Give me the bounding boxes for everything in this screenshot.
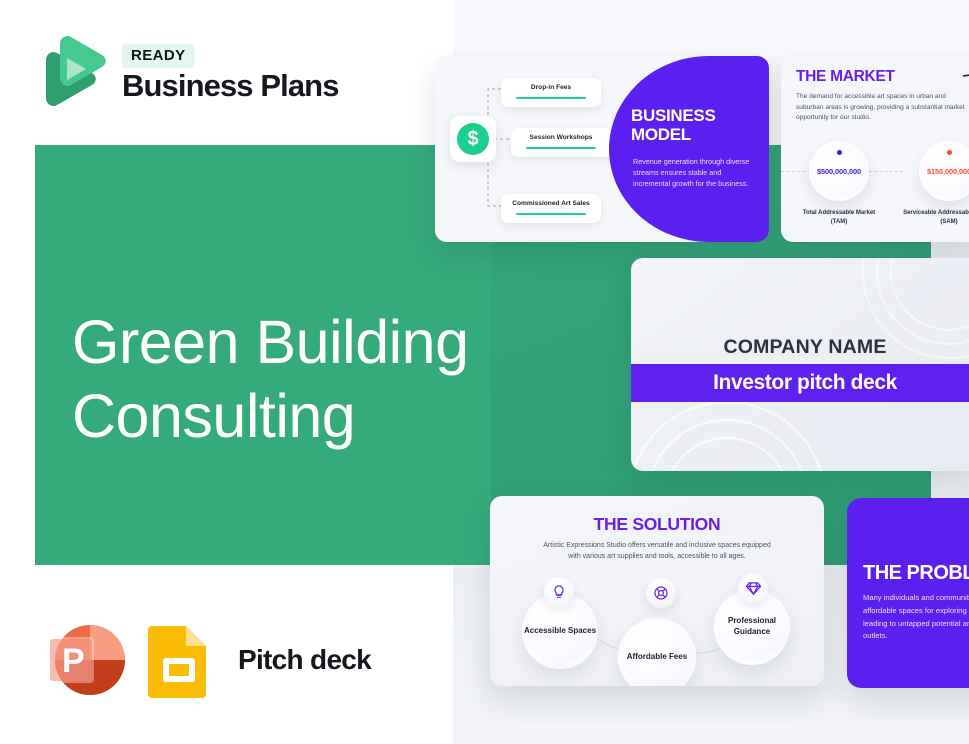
market-metric-dot bbox=[947, 150, 952, 155]
brand-lockup: READY Business Plans bbox=[40, 36, 339, 110]
double-play-triangle-logo bbox=[40, 36, 106, 110]
underline-accent bbox=[526, 147, 596, 149]
solution-node[interactable]: Affordable Fees bbox=[618, 618, 696, 686]
market-metric[interactable]: $150,000,000 Serviceable Addressable Mar… bbox=[903, 141, 969, 226]
svg-text:P: P bbox=[62, 642, 85, 680]
ready-badge: READY bbox=[122, 44, 195, 68]
dollar-icon: $ bbox=[450, 116, 496, 162]
slide-card-market[interactable]: THE MARKET The demand for accessible art… bbox=[781, 56, 969, 242]
dollar-symbol: $ bbox=[457, 123, 489, 155]
slide-card-business-model[interactable]: $ Drop-in Fees Session Workshops Commiss… bbox=[435, 56, 769, 242]
market-description: The demand for accessible art spaces in … bbox=[796, 92, 966, 124]
market-metric-dot bbox=[837, 150, 842, 155]
slide-card-solution[interactable]: THE SOLUTION Artistic Expressions Studio… bbox=[490, 496, 824, 686]
business-model-item-label: Drop-in Fees bbox=[510, 84, 592, 91]
format-badges: P Pitch deck bbox=[40, 618, 371, 702]
diamond-icon bbox=[738, 573, 768, 603]
solution-node[interactable]: Professional Guidance bbox=[714, 589, 790, 665]
lifebuoy-icon bbox=[646, 578, 676, 608]
underline-accent bbox=[516, 213, 586, 215]
business-model-item[interactable]: Drop-in Fees bbox=[501, 78, 601, 107]
brand-name: Business Plans bbox=[122, 70, 339, 103]
solution-node[interactable]: Accessible Spaces bbox=[522, 593, 598, 669]
brand-text: READY Business Plans bbox=[122, 44, 339, 103]
page-title: Green Building Consulting bbox=[72, 305, 502, 454]
problem-title: THE PROBLEM bbox=[863, 562, 969, 585]
business-model-item[interactable]: Session Workshops bbox=[511, 128, 611, 157]
problem-description: Many individuals and communities lack ac… bbox=[863, 592, 969, 643]
slide-card-company-name[interactable]: COMPANY NAME Investor pitch deck bbox=[631, 258, 969, 471]
business-model-title: BUSINESS MODEL bbox=[631, 106, 757, 144]
business-model-item-label: Session Workshops bbox=[520, 134, 602, 141]
business-model-description: Revenue generation through diverse strea… bbox=[633, 156, 757, 189]
business-model-item[interactable]: Commissioned Art Sales bbox=[501, 194, 601, 223]
lightbulb-icon bbox=[544, 577, 574, 607]
market-metric[interactable]: $500,000,000 Total Addressable Market (T… bbox=[797, 141, 881, 226]
business-model-item-label: Commissioned Art Sales bbox=[510, 200, 592, 207]
market-metric-value: $150,000,000 bbox=[927, 167, 969, 176]
poster-canvas: READY Business Plans Green Building Cons… bbox=[0, 0, 969, 744]
company-name-band: Investor pitch deck bbox=[631, 364, 969, 402]
market-title: THE MARKET bbox=[796, 68, 895, 86]
format-label: Pitch deck bbox=[238, 644, 371, 676]
market-metric-value: $500,000,000 bbox=[817, 167, 861, 176]
market-metric-bubble: $500,000,000 bbox=[809, 141, 869, 201]
market-metric-caption: Serviceable Addressable Market (SAM) bbox=[903, 209, 969, 226]
curved-arrow-icon bbox=[961, 70, 969, 114]
google-slides-icon bbox=[148, 622, 210, 698]
market-metric-caption: Total Addressable Market (TAM) bbox=[797, 209, 881, 226]
company-name-title: COMPANY NAME bbox=[631, 336, 969, 359]
solution-node-label: Affordable Fees bbox=[618, 618, 696, 686]
powerpoint-icon: P bbox=[40, 618, 126, 702]
underline-accent bbox=[516, 97, 586, 99]
slide-card-problem[interactable]: THE PROBLEM Many individuals and communi… bbox=[847, 498, 969, 688]
market-metric-bubble: $150,000,000 bbox=[919, 141, 969, 201]
company-name-subtitle: Investor pitch deck bbox=[713, 371, 897, 395]
